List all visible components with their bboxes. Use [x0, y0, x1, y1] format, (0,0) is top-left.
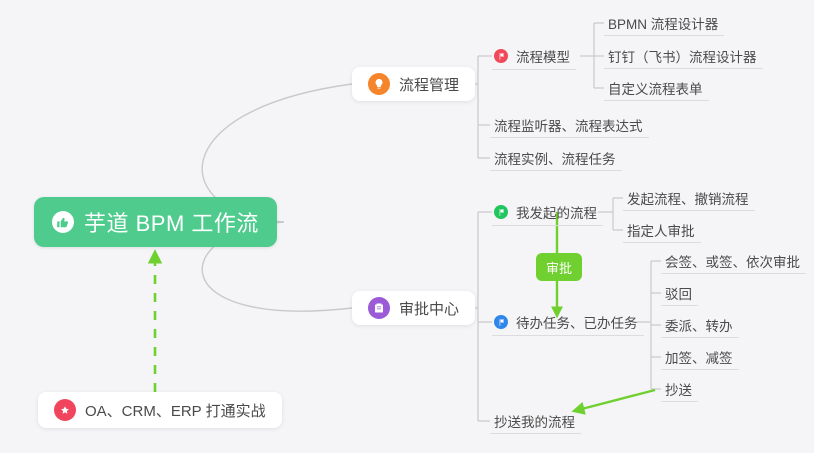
leaf-label-custom-form: 自定义流程表单: [608, 78, 703, 98]
leaf-node-cc-to-me[interactable]: 抄送我的流程: [490, 408, 581, 434]
topic-node-my-started-process[interactable]: 我发起的流程: [492, 199, 603, 226]
leaf-label-assignee-approval: 指定人审批: [627, 220, 695, 240]
lightbulb-icon: [368, 73, 390, 95]
clipboard-icon: [368, 297, 390, 319]
star-icon: [54, 399, 76, 421]
annotation-arrow-cc: [574, 390, 655, 411]
branch-label-approval-center: 审批中心: [399, 298, 459, 319]
leaf-node-custom-form[interactable]: 自定义流程表单: [604, 75, 709, 101]
branch-node-process-management[interactable]: 流程管理: [352, 67, 475, 101]
annotation-badge-label: 审批: [546, 258, 572, 277]
topic-node-process-model[interactable]: 流程模型: [492, 43, 576, 70]
leaf-node-reject[interactable]: 驳回: [661, 280, 698, 306]
leaf-node-launch-cancel-process[interactable]: 发起流程、撤销流程: [623, 185, 755, 211]
leaf-node-cc[interactable]: 抄送: [661, 376, 698, 402]
leaf-node-add-remove-sign[interactable]: 加签、减签: [661, 344, 739, 370]
mindmap-canvas: 芋道 BPM 工作流 流程管理 流程模型 BPMN 流程设计器 钉钉（飞书）流程…: [0, 0, 814, 453]
leaf-node-dingtalk-designer[interactable]: 钉钉（飞书）流程设计器: [604, 43, 763, 69]
leaf-node-countersign[interactable]: 会签、或签、依次审批: [661, 248, 806, 274]
leaf-label-launch-cancel-process: 发起流程、撤销流程: [627, 188, 749, 208]
leaf-label-countersign: 会签、或签、依次审批: [665, 251, 800, 271]
flag-icon: [494, 205, 508, 219]
leaf-node-process-listener[interactable]: 流程监听器、流程表达式: [490, 112, 649, 138]
leaf-label-cc-to-me: 抄送我的流程: [494, 411, 575, 431]
leaf-node-assignee-approval[interactable]: 指定人审批: [623, 217, 701, 243]
thumbs-up-icon: [52, 211, 74, 233]
topic-label-process-model: 流程模型: [516, 46, 570, 66]
branch-node-approval-center[interactable]: 审批中心: [352, 291, 475, 325]
leaf-label-dingtalk-designer: 钉钉（飞书）流程设计器: [608, 46, 757, 66]
callout-label-integration: OA、CRM、ERP 打通实战: [85, 400, 266, 421]
leaf-node-process-instance[interactable]: 流程实例、流程任务: [490, 145, 622, 171]
root-node[interactable]: 芋道 BPM 工作流: [34, 197, 277, 247]
leaf-label-reject: 驳回: [665, 283, 692, 303]
leaf-label-process-instance: 流程实例、流程任务: [494, 148, 616, 168]
flag-icon: [494, 315, 508, 329]
topic-label-todo-done-tasks: 待办任务、已办任务: [516, 312, 638, 332]
leaf-label-delegate-transfer: 委派、转办: [665, 315, 733, 335]
leaf-node-bpmn-designer[interactable]: BPMN 流程设计器: [604, 10, 724, 36]
leaf-label-cc: 抄送: [665, 379, 692, 399]
topic-label-my-started-process: 我发起的流程: [516, 202, 597, 222]
root-label: 芋道 BPM 工作流: [84, 206, 259, 238]
annotation-badge-approval: 审批: [536, 253, 582, 281]
topic-node-todo-done-tasks[interactable]: 待办任务、已办任务: [492, 309, 644, 336]
flag-icon: [494, 49, 508, 63]
branch-label-process-management: 流程管理: [399, 74, 459, 95]
leaf-node-delegate-transfer[interactable]: 委派、转办: [661, 312, 739, 338]
callout-node-integration[interactable]: OA、CRM、ERP 打通实战: [38, 392, 282, 428]
leaf-label-add-remove-sign: 加签、减签: [665, 347, 733, 367]
leaf-label-process-listener: 流程监听器、流程表达式: [494, 115, 643, 135]
leaf-label-bpmn-designer: BPMN 流程设计器: [608, 13, 718, 33]
